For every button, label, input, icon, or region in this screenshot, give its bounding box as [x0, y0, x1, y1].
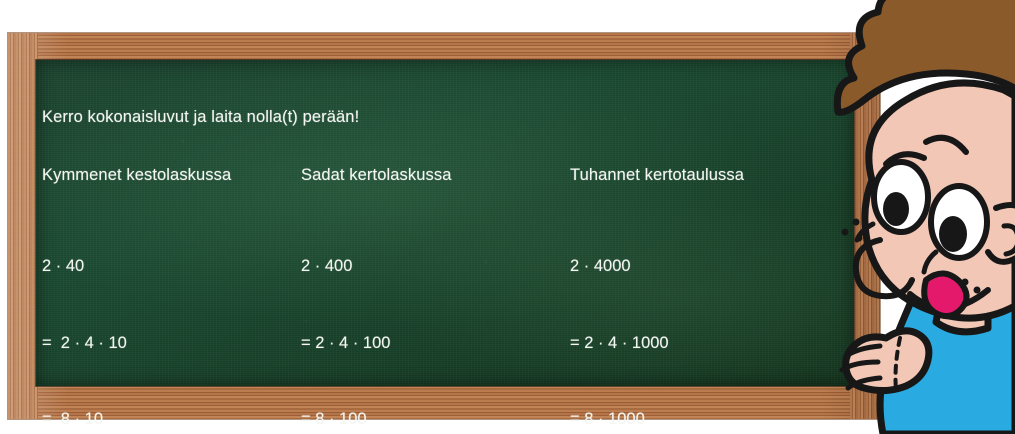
math-line: = 8 · 1000: [570, 407, 774, 433]
math-line: 2 · 400: [301, 254, 496, 280]
chalkboard-surface: Kerro kokonaisluvut ja laita nolla(t) pe…: [36, 60, 854, 386]
slide-canvas: Kerro kokonaisluvut ja laita nolla(t) pe…: [0, 0, 1015, 434]
frame-grain-left: [8, 33, 38, 419]
column-header-tens: Kymmenet kestolaskussa: [42, 166, 231, 185]
boy-tongue: [924, 273, 966, 316]
math-line: = 8 · 10: [42, 407, 210, 433]
column-body-tens: 2 · 40 = 2 · 4 · 10 = 8 · 10 = 80 (2 · 4…: [42, 203, 210, 434]
instruction-text: Kerro kokonaisluvut ja laita nolla(t) pe…: [42, 108, 359, 127]
boy-hand: [842, 331, 929, 391]
math-line: = 8 · 100: [301, 407, 496, 433]
boy-eye-right: [931, 186, 987, 258]
math-line: 2 · 40: [42, 254, 210, 280]
column-body-thousands: 2 · 4000 = 2 · 4 · 1000 = 8 · 1000 = 800…: [570, 203, 774, 434]
column-header-thousands: Tuhannet kertotaulussa: [570, 166, 744, 185]
cartoon-boy-illustration: [760, 0, 1015, 434]
column-header-hundreds: Sadat kertolaskussa: [301, 166, 451, 185]
math-line: = 2 · 4 · 100: [301, 331, 496, 357]
math-line: 2 · 4000: [570, 254, 774, 280]
math-line: = 2 · 4 · 1000: [570, 331, 774, 357]
math-line: = 2 · 4 · 10: [42, 331, 210, 357]
column-body-hundreds: 2 · 400 = 2 · 4 · 100 = 8 · 100 = 800 (2…: [301, 203, 496, 434]
boy-eye-left: [874, 162, 928, 232]
